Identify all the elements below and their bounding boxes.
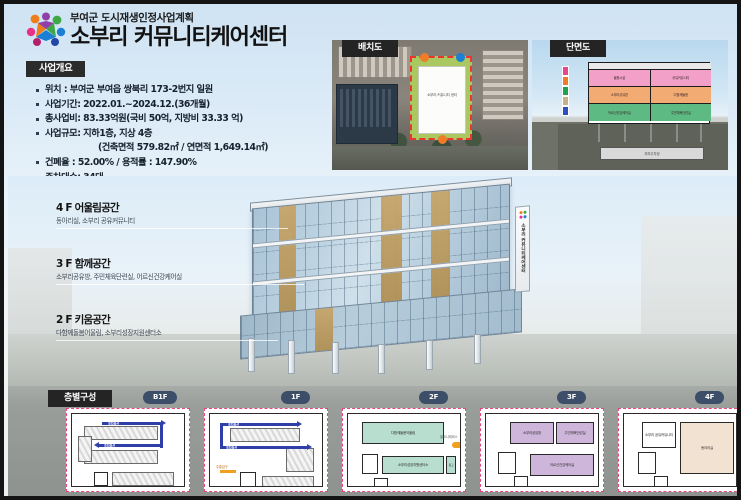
section-image: 돌봄시설 공유커뮤니티 소부리공유방 다함께돌봄 어르신건강케어실 주민체육단련… [532,40,728,170]
floor-note-2f: 2 F 키움공간 다함께돌봄어울림, 소부리성장지원센터소 [56,314,161,338]
site-building-footprint: 소부리 커뮤니티 센터 [418,66,466,134]
floor-note-2f-sub: 다함께돌봄어울림, 소부리성장지원센터소 [56,329,161,338]
summary-tag: 사업개요 [26,61,85,78]
section-legend-swatch-4 [562,106,569,116]
third-floor-plan[interactable]: 소부리공유방 주민체육단련실 어르신건강케어실 [480,408,604,492]
f1-arrow-label-2: 주차동선 [226,445,237,450]
room-4f-b: 동아리실 [680,422,734,474]
summary-item-period: 사업기간: 2022.01.~2024.12.(36개월) [36,98,326,113]
f1-entry-label: 주출입구 [216,464,228,469]
section-legend-swatch-3 [562,96,569,106]
site-marker-entry [438,135,447,144]
project-board: 부여군 도시재생인정사업계획 소부리 커뮤니티케어센터 사업개요 위치 : 부여… [0,0,741,500]
floor-note-4f: 4 F 어울림공간 동아리실, 소부리 공유커뮤니티 [56,202,135,226]
building-model: 소부리 커뮤니티케어센터 [236,188,536,374]
building-wood-panel-3 [431,190,450,302]
floor-note-2f-title: 2 F 키움공간 [56,314,161,327]
site-neighbor-top-right [482,50,524,120]
floor-leader-line-4f [56,228,288,229]
floor-badge-4f[interactable]: 4F [695,391,724,404]
building-column-4 [378,344,385,374]
project-summary: 사업개요 위치 : 부여군 부여읍 쌍북리 173-2번지 일원 사업기간: 2… [26,56,326,174]
summary-item-location: 위치 : 부여군 부여읍 쌍북리 173-2번지 일원 [36,83,326,98]
community-care-logo [24,11,68,49]
fourth-floor-plan[interactable]: 소부리 공유커뮤니티 동아리실 [618,408,741,492]
building-wood-panel-2 [381,195,402,307]
floor-leader-line-3f [56,284,304,285]
floor-badge-b1f[interactable]: B1F [143,391,177,404]
second-floor-plan[interactable]: 다함께돌봄어울림 소부리성장지원센터소 창고 발코니테라스 [342,408,466,492]
floor-badge-2f[interactable]: 2F [419,391,448,404]
site-plan-image: 소부리 커뮤니티 센터 [332,40,528,170]
section-legend-swatch-0 [562,66,569,76]
room-4f-a: 소부리 공유커뮤니티 [642,422,676,448]
floor-plans-tag: 층별구성 [48,390,112,407]
summary-item-budget: 총사업비: 83.33억원(국비 50억, 지방비 33.33 억) [36,112,326,127]
building-wood-panel-1 [279,205,296,317]
section-floor-3: 소부리공유방 다함께돌봄 [589,87,711,104]
project-main-title: 소부리 커뮤니티케어센터 [70,25,287,51]
section-color-legend [562,66,569,116]
sign-text: 소부리 커뮤니티케어센터 [520,223,526,273]
section-legend-swatch-2 [562,86,569,96]
section-building: 돌봄시설 공유커뮤니티 소부리공유방 다함께돌봄 어르신건강케어실 주민체육단련… [588,62,710,124]
section-label: 단면도 [550,40,606,57]
floor-badge-3f[interactable]: 3F [557,391,586,404]
section-room-2a: 어르신건강케어실 [589,104,651,121]
summary-list: 위치 : 부여군 부여읍 쌍북리 173-2번지 일원 사업기간: 2022.0… [26,83,326,185]
building-vertical-sign: 소부리 커뮤니티케어센터 [515,205,530,292]
summary-item-ratio: 건폐율 : 52.00% / 용적률 : 147.90% [36,156,326,171]
section-legend-swatch-1 [562,76,569,86]
section-room-4b: 공유커뮤니티 [651,70,712,86]
building-column-2 [288,340,295,374]
b1f-arrow-label: 주차동선 [108,421,119,426]
site-boundary: 소부리 커뮤니티 센터 [410,56,472,140]
building-column-6 [474,334,481,364]
section-room-4a: 돌봄시설 [589,70,651,86]
summary-item-scale: 사업규모: 지하1층, 지상 4층 [36,127,326,142]
section-roof [589,63,711,70]
section-floor-4: 돌봄시설 공유커뮤니티 [589,70,711,87]
site-road [332,146,528,170]
b1f-arrow-label-2: 주차동선 [104,443,115,448]
building-column-3 [332,342,339,374]
title-block: 부여군 도시재생인정사업계획 소부리 커뮤니티케어센터 [70,12,287,51]
section-pilotis [588,124,710,144]
floor-badge-1f[interactable]: 1F [281,391,310,404]
room-2f-c: 창고 [446,456,456,474]
room-2f-a: 다함께돌봄어울림 [362,422,444,444]
floor-note-4f-title: 4 F 어울림공간 [56,202,135,215]
floor-leader-line-2f [56,340,278,341]
sign-logo-icon [518,210,528,221]
floor-note-4f-sub: 동아리실, 소부리 공유커뮤니티 [56,217,135,226]
floor-note-3f-sub: 소부리공유방, 주민체육단련실, 어르신건강케어실 [56,273,182,282]
section-room-3a: 소부리공유방 [589,87,651,103]
room-3f-c: 어르신건강케어실 [530,454,594,476]
summary-item-area: (건축면적 579.82㎡ / 연면적 1,649.14㎡) [36,141,326,156]
site-neighbor-building [336,84,398,144]
section-basement: 지하주차장 [600,147,704,160]
building-rendering: 소부리 커뮤니티케어센터 4 F 어울림공간 동아리실, 소부리 공유커뮤니티 … [8,176,741,386]
basement-parking-plan[interactable]: 주차동선 주차동선 [66,408,190,492]
section-floor-2: 어르신건강케어실 주민체육단련실 [589,104,711,121]
floor-note-3f-title: 3 F 함께공간 [56,258,182,271]
building-column-1 [248,338,255,372]
section-room-3b: 다함께돌봄 [651,87,712,103]
section-room-2b: 주민체육단련실 [651,104,712,121]
floor-note-3f: 3 F 함께공간 소부리공유방, 주민체육단련실, 어르신건강케어실 [56,258,182,282]
site-marker-blue [456,53,465,62]
site-marker-orange [420,53,429,62]
f1-arrow-label: 주차동선 [228,422,239,427]
ground-floor-plan[interactable]: 주차동선 주차동선 주출입구 [204,408,328,492]
terrace-label-2f: 발코니테라스 [440,434,458,439]
room-3f-b: 주민체육단련실 [556,422,594,444]
project-pre-title: 부여군 도시재생인정사업계획 [70,12,287,24]
building-podium-wood [315,308,333,352]
site-plan-label: 배치도 [342,40,398,57]
site-footprint-label: 소부리 커뮤니티 센터 [419,93,465,98]
building-column-5 [426,340,433,370]
room-3f-a: 소부리공유방 [510,422,554,444]
room-2f-b: 소부리성장지원센터소 [382,456,444,474]
